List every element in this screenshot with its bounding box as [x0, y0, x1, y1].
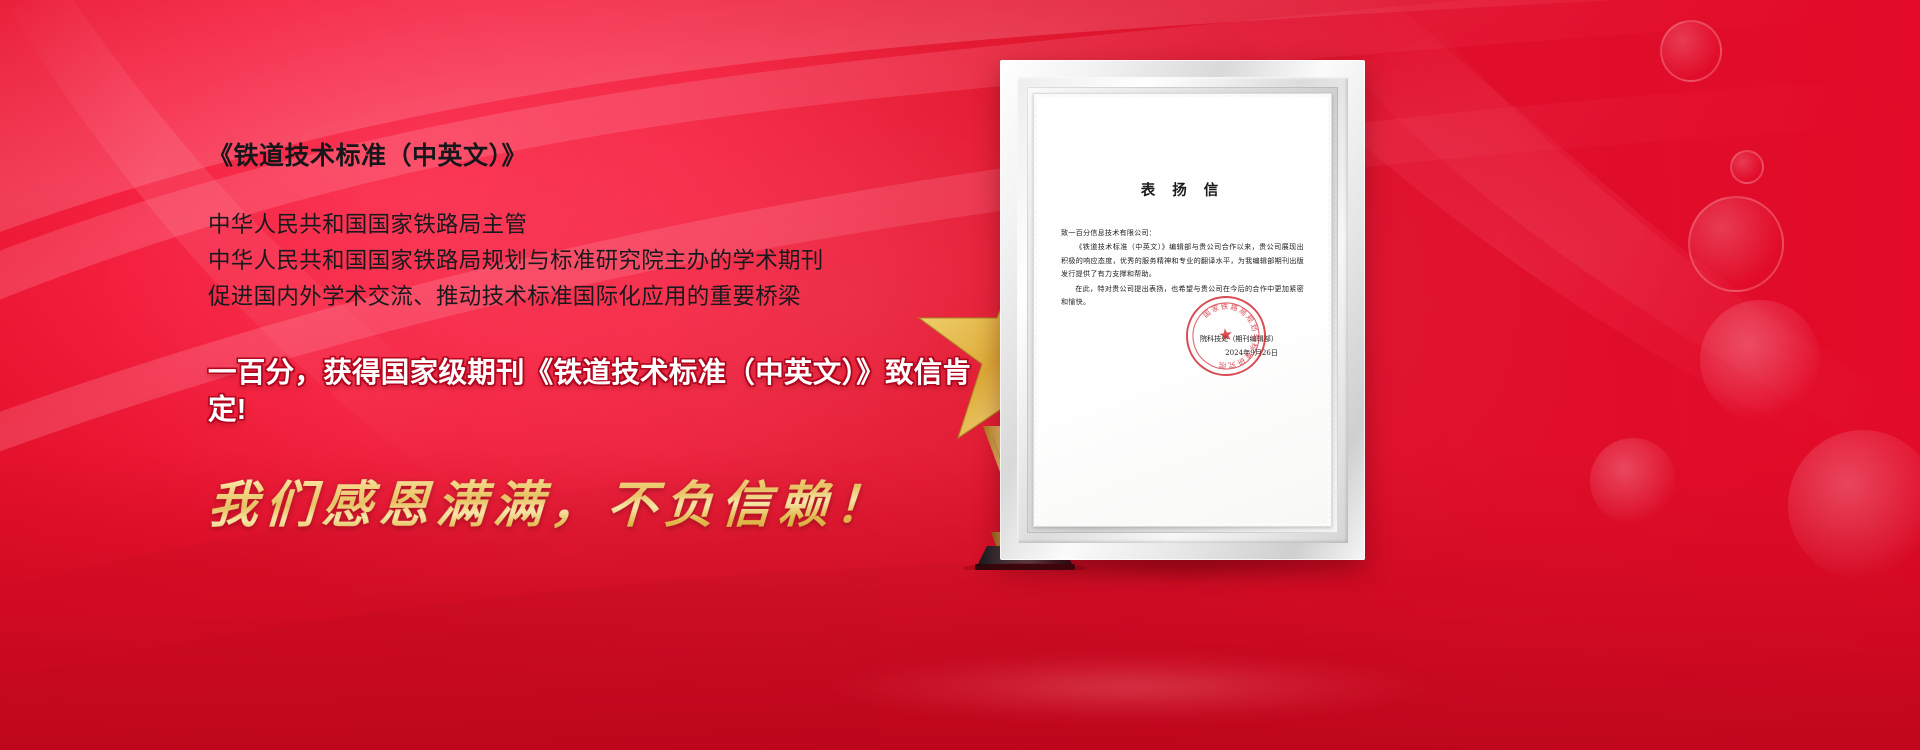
- description-line-3: 促进国内外学术交流、推动技术标准国际化应用的重要桥梁: [208, 279, 998, 315]
- description-line-1: 中华人民共和国国家铁路局主管: [208, 207, 998, 243]
- certificate-body: 致一百分信息技术有限公司： 《铁道技术标准（中英文）》编辑部与贵公司合作以来，贵…: [1061, 226, 1304, 308]
- journal-title: 《铁道技术标准（中英文）》: [208, 140, 998, 173]
- official-red-seal-icon: 国家铁路局规划与标准研究院 ★: [1180, 291, 1272, 383]
- certificate-paragraph-1: 《铁道技术标准（中英文）》编辑部与贵公司合作以来，贵公司展现出积极的响应态度，优…: [1061, 240, 1304, 280]
- bokeh-circle: [1688, 196, 1784, 292]
- bokeh-circle: [1660, 20, 1722, 82]
- bokeh-circle: [1590, 438, 1676, 524]
- award-banner: 《铁道技术标准（中英文）》 中华人民共和国国家铁路局主管 中华人民共和国国家铁路…: [0, 0, 1920, 750]
- description-line-2: 中华人民共和国国家铁路局规划与标准研究院主办的学术期刊: [208, 243, 998, 279]
- certificate-signature: 国家铁路局规划与标准研究院 ★ 院科技处（期刊编辑部） 2024年9月26日: [1061, 332, 1304, 360]
- bokeh-circle: [1730, 150, 1764, 184]
- calligraphy-slogan: 我们感恩满满，不负信赖！: [206, 476, 999, 534]
- bokeh-circle: [1700, 300, 1820, 420]
- certificate-paper: 表 扬 信 致一百分信息技术有限公司： 《铁道技术标准（中英文）》编辑部与贵公司…: [1037, 97, 1328, 523]
- seal-star-icon: ★: [1217, 327, 1235, 346]
- banner-text-column: 《铁道技术标准（中英文）》 中华人民共和国国家铁路局主管 中华人民共和国国家铁路…: [208, 140, 998, 534]
- certificate-mat: 表 扬 信 致一百分信息技术有限公司： 《铁道技术标准（中英文）》编辑部与贵公司…: [1033, 93, 1332, 527]
- award-certificate: 表 扬 信 致一百分信息技术有限公司： 《铁道技术标准（中英文）》编辑部与贵公司…: [1000, 60, 1365, 560]
- certificate-salutation: 致一百分信息技术有限公司：: [1061, 226, 1304, 239]
- floor-glow: [820, 652, 1440, 722]
- highlight-headline: 一百分，获得国家级期刊《铁道技术标准（中英文）》致信肯定!: [208, 355, 998, 430]
- journal-description: 中华人民共和国国家铁路局主管 中华人民共和国国家铁路局规划与标准研究院主办的学术…: [208, 207, 998, 315]
- certificate-title: 表 扬 信: [1061, 179, 1304, 200]
